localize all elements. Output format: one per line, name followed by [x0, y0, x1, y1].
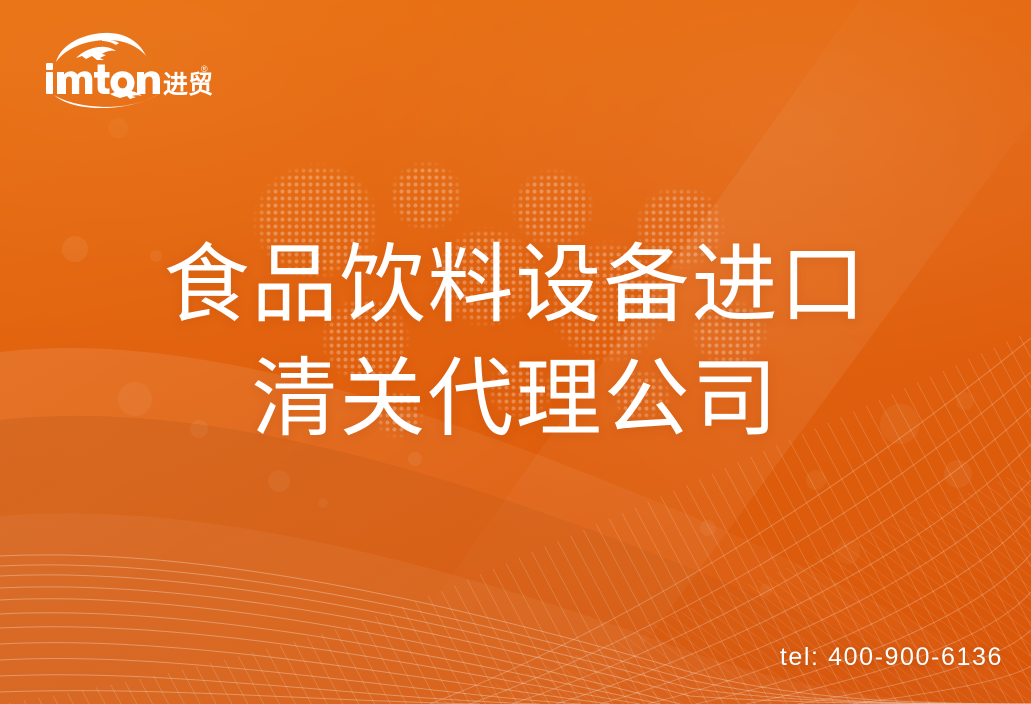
poster-canvas: 进贸通 ® 食品饮料设备进口 清关代理公司 tel: 400-900-6136 — [0, 0, 1031, 704]
registered-mark: ® — [201, 64, 208, 74]
brand-logo[interactable]: 进贸通 ® — [42, 32, 212, 108]
svg-text:进贸通: 进贸通 — [163, 70, 212, 99]
headline-line-1: 食品饮料设备进口 — [0, 228, 1031, 342]
logo-wordmark-text — [46, 63, 160, 95]
headline-line-2: 清关代理公司 — [0, 342, 1031, 456]
contact-phone[interactable]: tel: 400-900-6136 — [780, 643, 1003, 672]
logo-chinese-name: 进贸通 — [163, 70, 212, 99]
globe-arc-icon — [56, 33, 146, 62]
page-title: 食品饮料设备进口 清关代理公司 — [0, 228, 1031, 457]
logo-artwork: 进贸通 ® — [42, 32, 212, 108]
